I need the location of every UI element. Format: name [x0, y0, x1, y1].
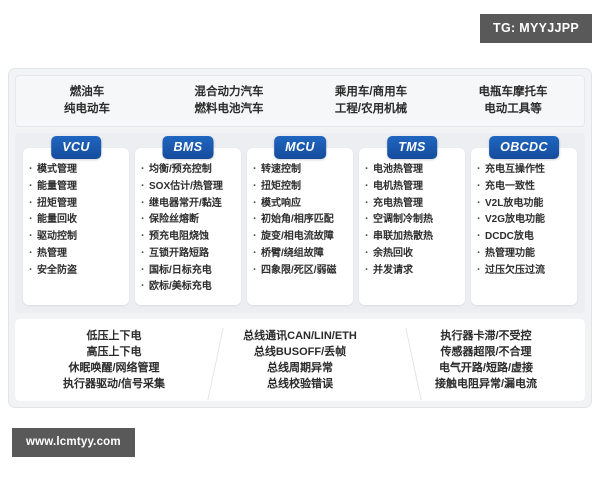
- bullet-icon: ·: [365, 230, 373, 244]
- bullet-icon: ·: [365, 247, 373, 261]
- module-function-item: ·旋变/相电流故障: [253, 230, 349, 244]
- common-faults-column: 低压上下电高压上下电休眠唤醒/网络管理执行器驱动/信号采集: [21, 331, 207, 390]
- module-badge: TMS: [387, 136, 437, 159]
- module-badge: OBCDC: [489, 136, 559, 159]
- module-function-list: ·均衡/预充控制·SOX估计/热管理·继电器常开/黏连·保险丝熔断·预充电阻烧蚀…: [141, 163, 237, 294]
- module-function-item: ·欧标/美标充电: [141, 280, 237, 294]
- module-function-label: 继电器常开/黏连: [149, 198, 222, 211]
- website-watermark: www.lcmtyy.com: [12, 428, 135, 457]
- module-function-item: ·串联加热散热: [365, 230, 461, 244]
- vehicle-category-label: 电瓶车摩托车: [479, 87, 548, 99]
- bullet-icon: ·: [477, 213, 485, 227]
- vehicle-categories-panel: 燃油车纯电动车混合动力汽车燃料电池汽车乘用车/商用车工程/农用机械电瓶车摩托车电…: [15, 75, 585, 127]
- module-card-vcu[interactable]: VCU·模式管理·能量管理·扭矩管理·能量回收·驱动控制·热管理·安全防盗: [23, 148, 129, 305]
- vehicle-category-label: 燃料电池汽车: [195, 104, 264, 116]
- module-function-item: ·DCDC放电: [477, 230, 573, 244]
- bullet-icon: ·: [365, 213, 373, 227]
- module-function-list: ·充电互操作性·充电一致性·V2L放电功能·V2G放电功能·DCDC放电·热管理…: [477, 163, 573, 277]
- vehicle-category-label: 纯电动车: [64, 104, 110, 116]
- module-function-label: 欧标/美标充电: [149, 281, 212, 294]
- common-fault-label: 执行器驱动/信号采集: [63, 379, 165, 390]
- diagram-frame: 燃油车纯电动车混合动力汽车燃料电池汽车乘用车/商用车工程/农用机械电瓶车摩托车电…: [8, 68, 592, 408]
- vehicle-category-column: 电瓶车摩托车电动工具等: [442, 87, 584, 115]
- bullet-icon: ·: [29, 247, 37, 261]
- module-function-label: DCDC放电: [485, 231, 534, 244]
- bullet-icon: ·: [253, 180, 261, 194]
- module-function-item: ·安全防盗: [29, 264, 125, 278]
- module-function-item: ·电机热管理: [365, 180, 461, 194]
- bullet-icon: ·: [477, 197, 485, 211]
- vehicle-category-column: 乘用车/商用车工程/农用机械: [300, 87, 442, 115]
- module-function-label: 互锁开路短路: [149, 248, 209, 261]
- common-fault-label: 接触电阻异常/漏电流: [435, 379, 537, 390]
- bullet-icon: ·: [477, 230, 485, 244]
- module-function-item: ·热管理功能: [477, 247, 573, 261]
- module-function-label: 驱动控制: [37, 231, 77, 244]
- module-function-item: ·四象限/死区/弱磁: [253, 264, 349, 278]
- bullet-icon: ·: [141, 197, 149, 211]
- module-function-label: 转速控制: [261, 164, 301, 177]
- bullet-icon: ·: [141, 180, 149, 194]
- module-function-label: 四象限/死区/弱磁: [261, 265, 337, 278]
- bullet-icon: ·: [365, 180, 373, 194]
- bullet-icon: ·: [477, 180, 485, 194]
- module-function-item: ·余热回收: [365, 247, 461, 261]
- module-function-label: 充电热管理: [373, 198, 423, 211]
- module-function-list: ·电池热管理·电机热管理·充电热管理·空调制冷制热·串联加热散热·余热回收·并发…: [365, 163, 461, 277]
- module-function-item: ·扭矩管理: [29, 197, 125, 211]
- module-function-label: V2G放电功能: [485, 214, 545, 227]
- module-badge: MCU: [274, 136, 326, 159]
- common-fault-label: 总线校验错误: [267, 379, 333, 390]
- bullet-icon: ·: [141, 163, 149, 177]
- module-function-item: ·充电热管理: [365, 197, 461, 211]
- bullet-icon: ·: [253, 197, 261, 211]
- vehicle-category-label: 混合动力汽车: [195, 87, 264, 99]
- module-function-label: 串联加热散热: [373, 231, 433, 244]
- common-fault-label: 电气开路/短路/虚接: [439, 363, 533, 374]
- common-faults-panel: 低压上下电高压上下电休眠唤醒/网络管理执行器驱动/信号采集总线通讯CAN/LIN…: [15, 319, 585, 401]
- vehicle-category-column: 燃油车纯电动车: [16, 87, 158, 115]
- module-function-item: ·桥臂/绕组故障: [253, 247, 349, 261]
- module-function-label: 预充电阻烧蚀: [149, 231, 209, 244]
- bullet-icon: ·: [477, 247, 485, 261]
- bullet-icon: ·: [141, 280, 149, 294]
- common-fault-label: 执行器卡滞/不受控: [440, 331, 531, 342]
- common-fault-label: 低压上下电: [87, 331, 142, 342]
- module-card-bms[interactable]: BMS·均衡/预充控制·SOX估计/热管理·继电器常开/黏连·保险丝熔断·预充电…: [135, 148, 241, 305]
- module-function-item: ·互锁开路短路: [141, 247, 237, 261]
- bullet-icon: ·: [29, 197, 37, 211]
- module-function-item: ·模式管理: [29, 163, 125, 177]
- tg-handle-watermark: TG: MYYJJPP: [480, 14, 592, 43]
- bullet-icon: ·: [141, 247, 149, 261]
- bullet-icon: ·: [29, 264, 37, 278]
- common-fault-label: 传感器超限/不合理: [440, 347, 531, 358]
- module-badge: BMS: [163, 136, 214, 159]
- common-fault-label: 高压上下电: [87, 347, 142, 358]
- module-function-label: 安全防盗: [37, 265, 77, 278]
- bullet-icon: ·: [365, 197, 373, 211]
- bullet-icon: ·: [141, 264, 149, 278]
- bullet-icon: ·: [253, 213, 261, 227]
- common-fault-label: 总线周期异常: [267, 363, 333, 374]
- vehicle-category-label: 工程/农用机械: [335, 104, 407, 116]
- module-function-item: ·充电互操作性: [477, 163, 573, 177]
- control-modules-panel: VCU·模式管理·能量管理·扭矩管理·能量回收·驱动控制·热管理·安全防盗BMS…: [15, 133, 585, 313]
- module-function-label: V2L放电功能: [485, 198, 543, 211]
- module-function-label: 保险丝熔断: [149, 214, 199, 227]
- bullet-icon: ·: [365, 163, 373, 177]
- common-fault-label: 总线通讯CAN/LIN/ETH: [243, 331, 357, 342]
- module-function-label: 初始角/相序匹配: [261, 214, 334, 227]
- bullet-icon: ·: [29, 180, 37, 194]
- module-function-item: ·能量回收: [29, 213, 125, 227]
- module-function-item: ·充电一致性: [477, 180, 573, 194]
- vehicle-category-label: 燃油车: [70, 87, 105, 99]
- module-function-label: 过压欠压过流: [485, 265, 545, 278]
- module-function-label: 旋变/相电流故障: [261, 231, 334, 244]
- module-function-label: 均衡/预充控制: [149, 164, 212, 177]
- module-function-label: 热管理功能: [485, 248, 535, 261]
- bullet-icon: ·: [141, 213, 149, 227]
- common-faults-column: 总线通讯CAN/LIN/ETH总线BUSOFF/丢帧总线周期异常总线校验错误: [207, 331, 393, 390]
- module-function-label: 国标/日标充电: [149, 265, 212, 278]
- module-card-obcdc[interactable]: OBCDC·充电互操作性·充电一致性·V2L放电功能·V2G放电功能·DCDC放…: [471, 148, 577, 305]
- module-badge: VCU: [51, 136, 101, 159]
- bullet-icon: ·: [477, 163, 485, 177]
- module-function-label: SOX估计/热管理: [149, 181, 223, 194]
- module-function-item: ·继电器常开/黏连: [141, 197, 237, 211]
- module-function-label: 模式管理: [37, 164, 77, 177]
- module-function-label: 热管理: [37, 248, 67, 261]
- module-function-label: 空调制冷制热: [373, 214, 433, 227]
- module-function-label: 能量管理: [37, 181, 77, 194]
- module-function-label: 能量回收: [37, 214, 77, 227]
- module-function-item: ·空调制冷制热: [365, 213, 461, 227]
- module-function-item: ·V2G放电功能: [477, 213, 573, 227]
- vehicle-category-column: 混合动力汽车燃料电池汽车: [158, 87, 300, 115]
- module-function-label: 余热回收: [373, 248, 413, 261]
- module-function-item: ·国标/日标充电: [141, 264, 237, 278]
- bullet-icon: ·: [253, 247, 261, 261]
- module-function-item: ·V2L放电功能: [477, 197, 573, 211]
- module-function-label: 扭矩控制: [261, 181, 301, 194]
- common-fault-label: 休眠唤醒/网络管理: [68, 363, 159, 374]
- module-function-item: ·保险丝熔断: [141, 213, 237, 227]
- module-function-item: ·模式响应: [253, 197, 349, 211]
- module-function-item: ·并发请求: [365, 264, 461, 278]
- bullet-icon: ·: [253, 230, 261, 244]
- module-function-label: 模式响应: [261, 198, 301, 211]
- module-function-list: ·模式管理·能量管理·扭矩管理·能量回收·驱动控制·热管理·安全防盗: [29, 163, 125, 277]
- module-function-item: ·预充电阻烧蚀: [141, 230, 237, 244]
- module-function-item: ·均衡/预充控制: [141, 163, 237, 177]
- module-function-list: ·转速控制·扭矩控制·模式响应·初始角/相序匹配·旋变/相电流故障·桥臂/绕组故…: [253, 163, 349, 277]
- module-function-label: 电池热管理: [373, 164, 423, 177]
- bullet-icon: ·: [253, 264, 261, 278]
- module-function-label: 电机热管理: [373, 181, 423, 194]
- module-card-mcu[interactable]: MCU·转速控制·扭矩控制·模式响应·初始角/相序匹配·旋变/相电流故障·桥臂/…: [247, 148, 353, 305]
- module-function-item: ·扭矩控制: [253, 180, 349, 194]
- module-function-label: 充电互操作性: [485, 164, 545, 177]
- vehicle-category-label: 乘用车/商用车: [335, 87, 407, 99]
- module-function-item: ·热管理: [29, 247, 125, 261]
- vehicle-category-label: 电动工具等: [484, 104, 542, 116]
- module-card-tms[interactable]: TMS·电池热管理·电机热管理·充电热管理·空调制冷制热·串联加热散热·余热回收…: [359, 148, 465, 305]
- bullet-icon: ·: [477, 264, 485, 278]
- module-function-item: ·过压欠压过流: [477, 264, 573, 278]
- module-function-item: ·初始角/相序匹配: [253, 213, 349, 227]
- bullet-icon: ·: [29, 163, 37, 177]
- common-fault-label: 总线BUSOFF/丢帧: [254, 347, 346, 358]
- module-function-item: ·转速控制: [253, 163, 349, 177]
- bullet-icon: ·: [253, 163, 261, 177]
- module-function-item: ·SOX估计/热管理: [141, 180, 237, 194]
- bullet-icon: ·: [365, 264, 373, 278]
- module-function-item: ·电池热管理: [365, 163, 461, 177]
- bullet-icon: ·: [29, 230, 37, 244]
- diagram-page: TG: MYYJJPP 燃油车纯电动车混合动力汽车燃料电池汽车乘用车/商用车工程…: [0, 0, 600, 480]
- bullet-icon: ·: [141, 230, 149, 244]
- module-function-item: ·能量管理: [29, 180, 125, 194]
- module-function-label: 桥臂/绕组故障: [261, 248, 324, 261]
- module-function-label: 扭矩管理: [37, 198, 77, 211]
- module-function-label: 并发请求: [373, 265, 413, 278]
- common-faults-column: 执行器卡滞/不受控传感器超限/不合理电气开路/短路/虚接接触电阻异常/漏电流: [393, 331, 579, 390]
- bullet-icon: ·: [29, 213, 37, 227]
- module-function-item: ·驱动控制: [29, 230, 125, 244]
- module-function-label: 充电一致性: [485, 181, 535, 194]
